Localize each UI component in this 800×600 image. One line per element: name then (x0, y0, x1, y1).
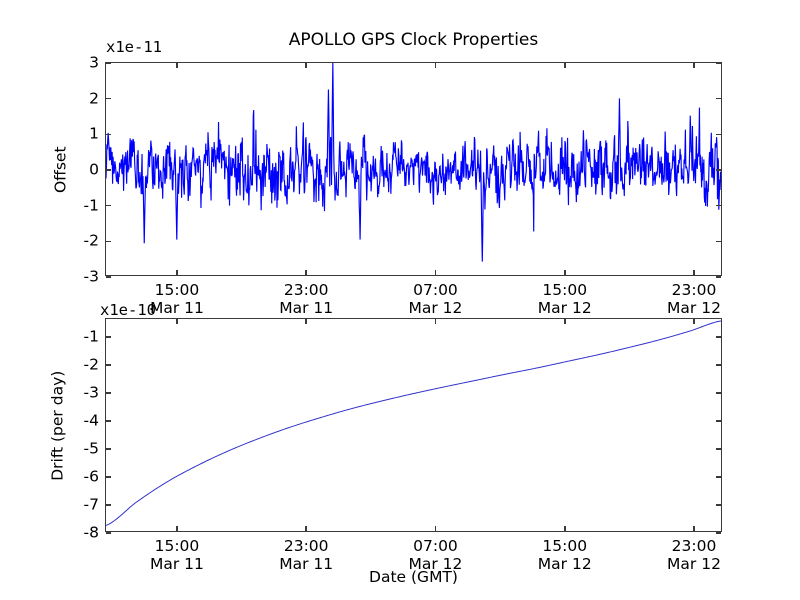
y-tick-mark (106, 364, 111, 366)
y-tick-mark (716, 241, 721, 243)
x-tick-mark (564, 63, 566, 68)
x-tick-label: 15:00Mar 11 (150, 281, 204, 318)
x-tick-mark (435, 63, 437, 68)
x-tick-mark (176, 319, 178, 324)
y-tick-mark (716, 62, 721, 64)
y-tick-mark (716, 205, 721, 207)
y-tick-label: -3 (84, 385, 99, 401)
offset-y-axis-label: Offset (53, 100, 69, 240)
y-tick-label: 2 (89, 91, 99, 107)
x-tick-label: 15:00Mar 12 (538, 537, 592, 574)
y-tick-mark (106, 276, 111, 278)
offset-plot-area: 15:00Mar 1123:00Mar 1107:00Mar 1215:00Ma… (105, 62, 722, 276)
y-tick-mark (716, 134, 721, 136)
x-tick-mark (305, 319, 307, 324)
y-tick-label: -5 (84, 441, 99, 457)
x-tick-mark (305, 270, 307, 275)
y-tick-mark (106, 134, 111, 136)
y-tick-mark (716, 504, 721, 506)
x-tick-label: 15:00Mar 12 (538, 281, 592, 318)
y-tick-mark (716, 276, 721, 278)
y-tick-mark (106, 241, 111, 243)
y-tick-mark (106, 476, 111, 478)
y-tick-mark (106, 504, 111, 506)
y-tick-mark (106, 98, 111, 100)
x-tick-mark (305, 63, 307, 68)
y-tick-mark (106, 336, 111, 338)
y-tick-mark (716, 476, 721, 478)
drift-plot-area: 15:00Mar 1123:00Mar 1107:00Mar 1215:00Ma… (105, 318, 722, 532)
x-tick-mark (693, 319, 695, 324)
y-tick-mark (106, 62, 111, 64)
y-tick-label: -8 (84, 525, 99, 541)
y-tick-mark (106, 420, 111, 422)
x-tick-mark (435, 319, 437, 324)
y-tick-label: -1 (84, 329, 99, 345)
y-tick-mark (716, 532, 721, 534)
drift-y-exponent-label: x1e-10 (100, 303, 156, 319)
offset-trace-path (106, 63, 721, 262)
y-tick-mark (716, 448, 721, 450)
x-tick-label: 15:00Mar 11 (150, 537, 204, 574)
chart-title: APOLLO GPS Clock Properties (105, 32, 722, 49)
x-tick-mark (176, 270, 178, 275)
x-tick-mark (435, 526, 437, 531)
y-tick-label: -7 (84, 497, 99, 513)
x-tick-mark (564, 526, 566, 531)
drift-curve-path (106, 321, 721, 526)
y-tick-mark (716, 364, 721, 366)
y-tick-label: -1 (84, 198, 99, 214)
y-tick-mark (106, 392, 111, 394)
y-tick-mark (106, 169, 111, 171)
x-tick-mark (564, 319, 566, 324)
drift-y-axis-label: Drift (per day) (50, 331, 66, 521)
x-tick-mark (176, 526, 178, 531)
x-tick-mark (693, 526, 695, 531)
figure-canvas: APOLLO GPS Clock Properties x1e-11 Offse… (0, 0, 800, 600)
x-tick-mark (176, 63, 178, 68)
y-tick-mark (106, 205, 111, 207)
y-tick-label: 3 (89, 55, 99, 71)
x-tick-mark (305, 526, 307, 531)
x-tick-label: 07:00Mar 12 (409, 281, 463, 318)
x-tick-label: 23:00Mar 12 (667, 537, 721, 574)
offset-series-line (106, 63, 721, 275)
x-tick-label: 23:00Mar 11 (279, 537, 333, 574)
y-tick-label: -3 (84, 269, 99, 285)
y-tick-label: 1 (89, 127, 99, 143)
y-tick-label: -2 (84, 357, 99, 373)
x-tick-mark (693, 63, 695, 68)
x-axis-label: Date (GMT) (105, 570, 722, 586)
x-tick-mark (693, 270, 695, 275)
y-tick-mark (106, 532, 111, 534)
y-tick-mark (716, 336, 721, 338)
x-tick-label: 23:00Mar 11 (279, 281, 333, 318)
y-tick-label: -6 (84, 469, 99, 485)
y-tick-label: 0 (89, 162, 99, 178)
offset-y-exponent-label: x1e-11 (106, 40, 162, 56)
y-tick-mark (716, 169, 721, 171)
x-tick-mark (564, 270, 566, 275)
y-tick-label: -4 (84, 413, 99, 429)
y-tick-mark (716, 392, 721, 394)
y-tick-mark (716, 98, 721, 100)
y-tick-mark (106, 448, 111, 450)
drift-series-line (106, 319, 721, 531)
x-tick-label: 23:00Mar 12 (667, 281, 721, 318)
y-tick-mark (716, 420, 721, 422)
x-tick-mark (435, 270, 437, 275)
y-tick-label: -2 (84, 234, 99, 250)
